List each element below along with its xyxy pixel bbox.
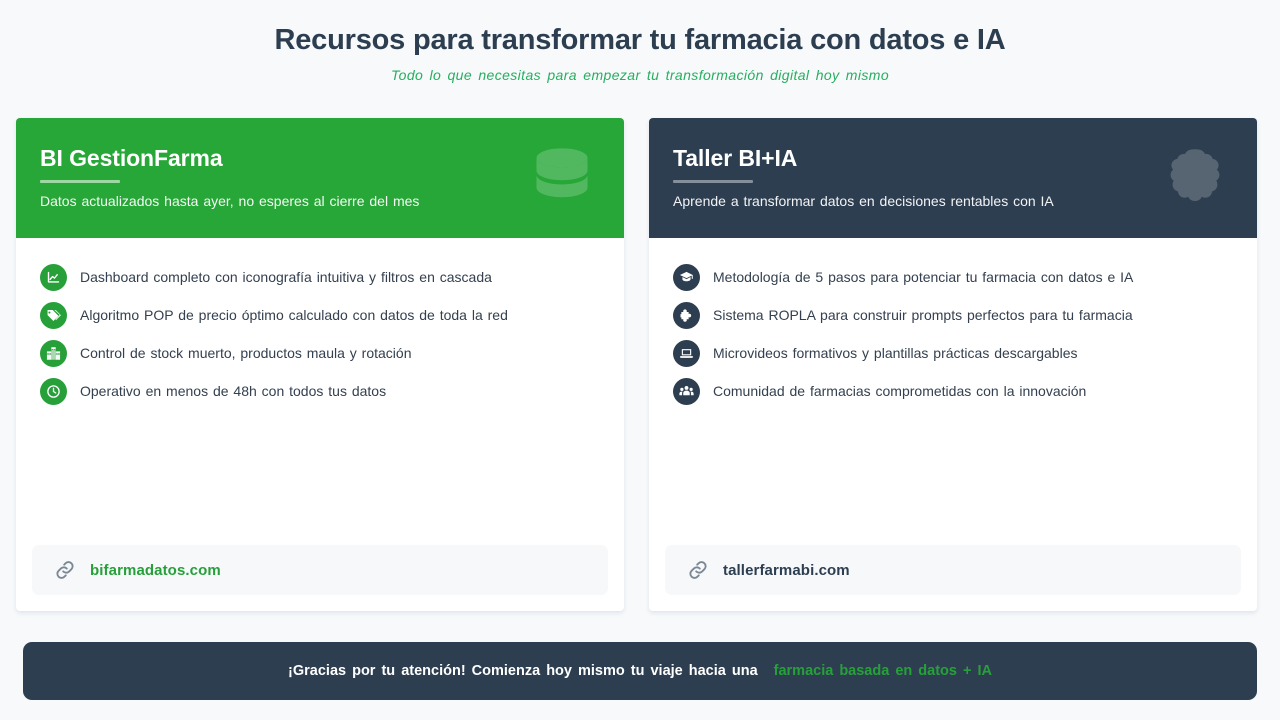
feature-list: Metodología de 5 pasos para potenciar tu…: [649, 238, 1257, 545]
list-item-label: Operativo en menos de 48h con todos tus …: [80, 382, 386, 400]
link-chain-icon: [687, 559, 709, 581]
link-chain-icon: [54, 559, 76, 581]
banner-message: ¡Gracias por tu atención! Comienza hoy m…: [288, 663, 758, 679]
list-item: Control de stock muerto, productos maula…: [40, 334, 600, 372]
list-item: Comunidad de farmacias comprometidas con…: [673, 372, 1233, 410]
page-title: Recursos para transformar tu farmacia co…: [0, 22, 1280, 58]
feature-list: Dashboard completo con iconografía intui…: [16, 238, 624, 545]
list-item-label: Algoritmo POP de precio óptimo calculado…: [80, 306, 508, 324]
card-header: Taller BI+IA Aprende a transformar datos…: [649, 118, 1257, 238]
list-item: Metodología de 5 pasos para potenciar tu…: [673, 258, 1233, 296]
users-group-icon: [673, 378, 700, 405]
laptop-icon: [673, 340, 700, 367]
card-header: BI GestionFarma Datos actualizados hasta…: [16, 118, 624, 238]
list-item: Operativo en menos de 48h con todos tus …: [40, 372, 600, 410]
list-item-label: Comunidad de farmacias comprometidas con…: [713, 382, 1086, 400]
list-item: Sistema ROPLA para construir prompts per…: [673, 296, 1233, 334]
list-item-label: Dashboard completo con iconografía intui…: [80, 268, 492, 286]
list-item: Microvideos formativos y plantillas prác…: [673, 334, 1233, 372]
card-title: BI GestionFarma: [40, 144, 596, 172]
slide-root: Recursos para transformar tu farmacia co…: [0, 0, 1280, 720]
tags-icon: [40, 302, 67, 329]
card-bi-gestionfarma[interactable]: BI GestionFarma Datos actualizados hasta…: [16, 118, 624, 611]
page-subtitle: Todo lo que necesitas para empezar tu tr…: [0, 67, 1280, 83]
list-item: Dashboard completo con iconografía intui…: [40, 258, 600, 296]
card-link-label: bifarmadatos.com: [90, 562, 221, 579]
cards-row: BI GestionFarma Datos actualizados hasta…: [16, 118, 1264, 611]
closing-banner: ¡Gracias por tu atención! Comienza hoy m…: [23, 642, 1257, 700]
card-link-tallerfarmabi[interactable]: tallerfarmabi.com: [665, 545, 1241, 595]
page-header: Recursos para transformar tu farmacia co…: [0, 0, 1280, 83]
card-taller-bi-ia[interactable]: Taller BI+IA Aprende a transformar datos…: [649, 118, 1257, 611]
card-subtitle: Datos actualizados hasta ayer, no espere…: [40, 192, 596, 210]
clock-icon: [40, 378, 67, 405]
list-item: Algoritmo POP de precio óptimo calculado…: [40, 296, 600, 334]
card-subtitle: Aprende a transformar datos en decisione…: [673, 192, 1229, 210]
puzzle-piece-icon: [673, 302, 700, 329]
list-item-label: Metodología de 5 pasos para potenciar tu…: [713, 268, 1133, 286]
chart-line-icon: [40, 264, 67, 291]
list-item-label: Sistema ROPLA para construir prompts per…: [713, 306, 1133, 324]
boxes-stacked-icon: [40, 340, 67, 367]
banner-accent-text: farmacia basada en datos + IA: [774, 663, 992, 679]
card-link-label: tallerfarmabi.com: [723, 562, 850, 579]
card-title: Taller BI+IA: [673, 144, 1229, 172]
title-divider: [673, 180, 753, 183]
title-divider: [40, 180, 120, 183]
list-item-label: Control de stock muerto, productos maula…: [80, 344, 412, 362]
graduation-cap-icon: [673, 264, 700, 291]
card-link-bifarmadatos[interactable]: bifarmadatos.com: [32, 545, 608, 595]
list-item-label: Microvideos formativos y plantillas prác…: [713, 344, 1077, 362]
